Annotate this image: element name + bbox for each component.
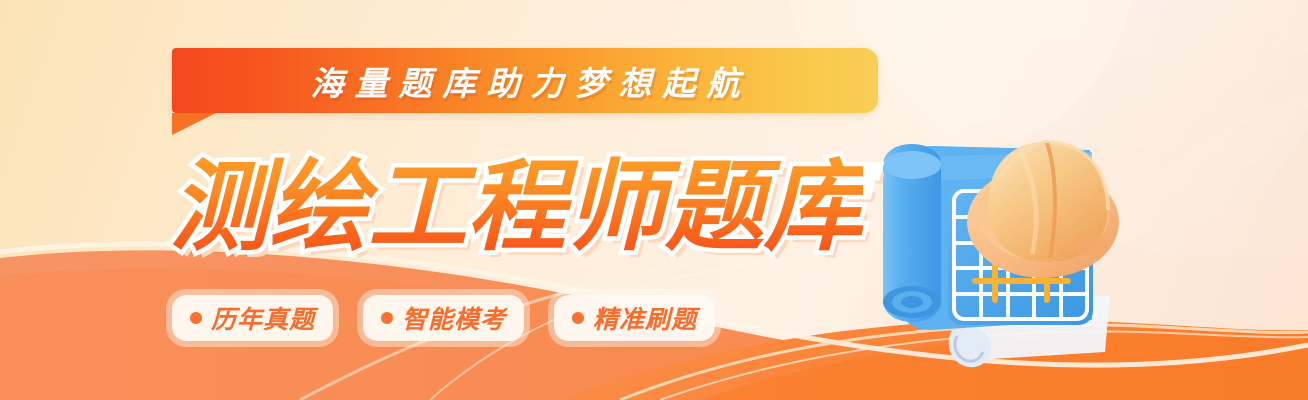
feature-tag-label: 历年真题 — [211, 300, 315, 336]
main-title-fill: 测绘工程师题库 — [170, 148, 863, 266]
feature-tag[interactable]: 智能模考 — [363, 295, 524, 341]
bullet-dot-icon — [381, 312, 393, 324]
ribbon-text: 海量题库助力梦想起航 — [172, 48, 878, 113]
ribbon-banner: 海量题库助力梦想起航 — [172, 48, 878, 113]
feature-tag-label: 智能模考 — [402, 300, 506, 336]
feature-tag[interactable]: 历年真题 — [172, 295, 333, 341]
feature-tag[interactable]: 精准刷题 — [554, 295, 715, 341]
promo-banner: 海量题库助力梦想起航 测绘工程师题库 测绘工程师题库 历年真题 智能模考 精准刷… — [0, 0, 1308, 400]
main-title: 测绘工程师题库 测绘工程师题库 — [170, 148, 910, 266]
bullet-dot-icon — [190, 312, 202, 324]
feature-tag-label: 精准刷题 — [593, 300, 697, 336]
feature-tag-list: 历年真题 智能模考 精准刷题 — [172, 295, 715, 341]
bullet-dot-icon — [572, 312, 584, 324]
